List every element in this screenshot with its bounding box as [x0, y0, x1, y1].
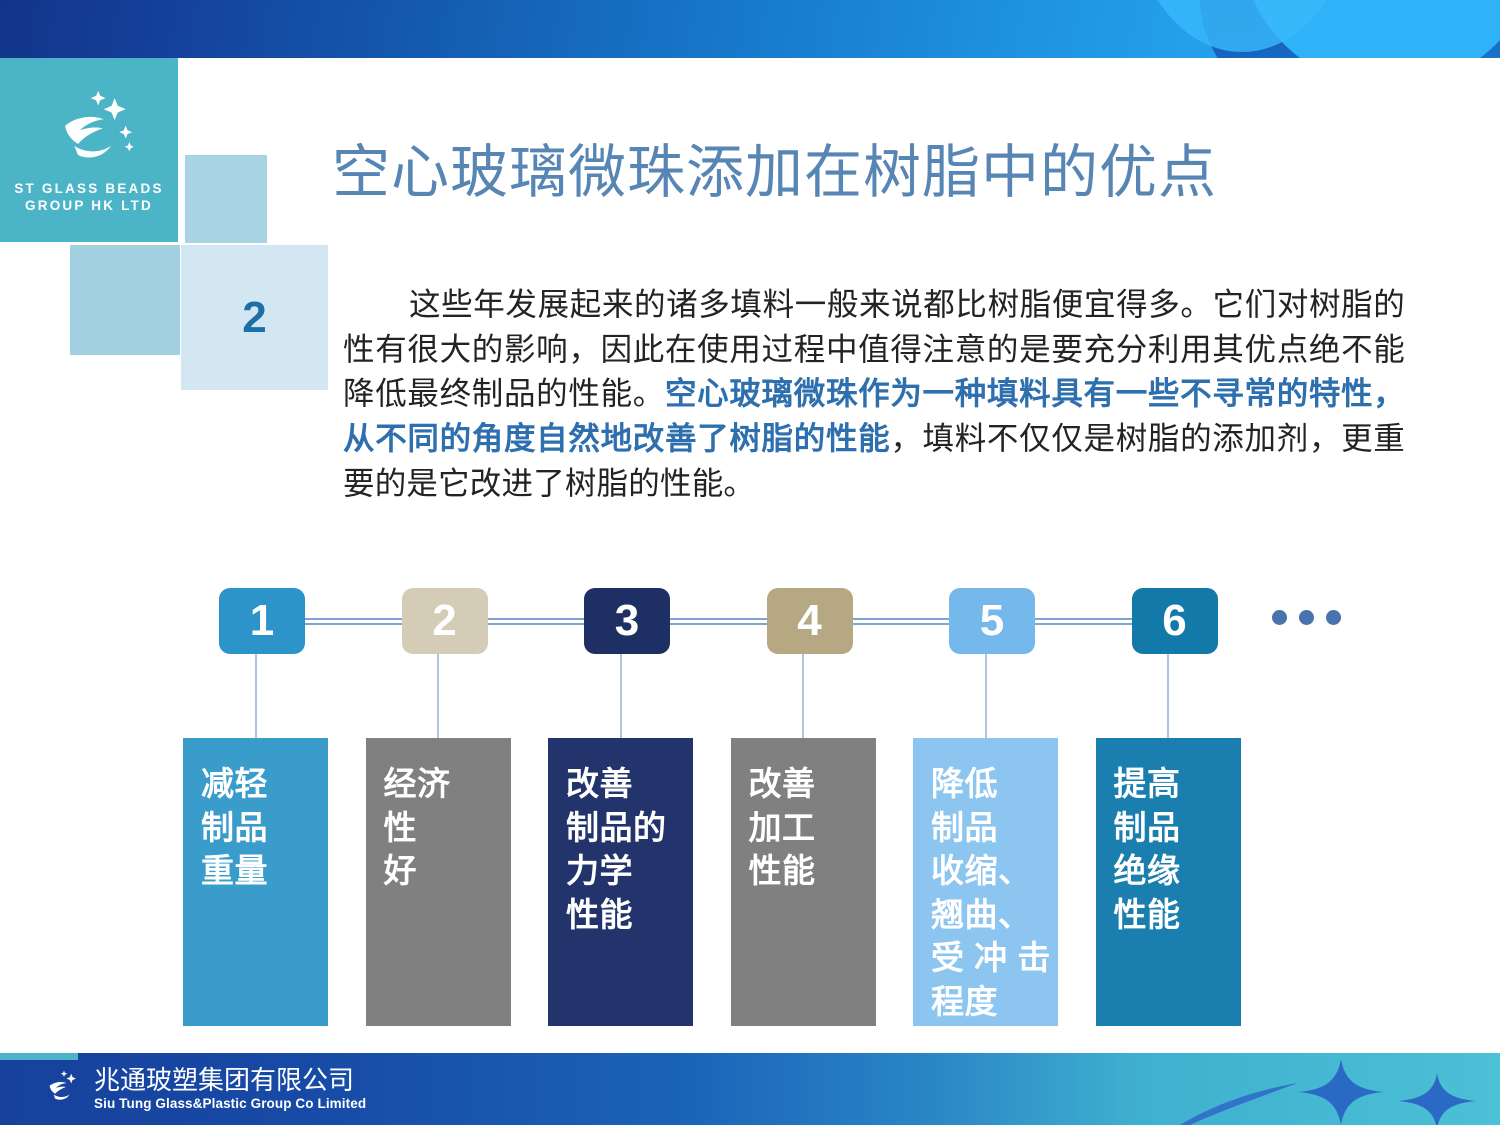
- benefit-panel-line: 好: [384, 849, 511, 893]
- timeline-connector: [303, 618, 404, 625]
- benefit-panel-line: 改善: [566, 762, 693, 806]
- benefit-panel-line: 制品的: [566, 806, 693, 850]
- benefit-panel-1[interactable]: 减轻制品重量: [183, 738, 328, 1026]
- benefit-panel-line: 重量: [201, 849, 328, 893]
- timeline-dropline: [620, 654, 622, 738]
- footer-brand: 兆通玻塑集团有限公司 Siu Tung Glass&Plastic Group …: [36, 1065, 366, 1113]
- benefit-panel-line: 程度: [931, 980, 1058, 1024]
- swirl-sparkle-logo-icon: [36, 1065, 84, 1113]
- benefit-panel-5[interactable]: 降低制品收缩、翘曲、受 冲 击程度: [913, 738, 1058, 1026]
- timeline-dropline: [1167, 654, 1169, 738]
- slide-number-box: 2: [181, 245, 328, 390]
- footer-company-en: Siu Tung Glass&Plastic Group Co Limited: [94, 1096, 366, 1112]
- benefit-panel-line: 性能: [1114, 893, 1241, 937]
- benefit-panel-line: 翘曲、: [931, 893, 1058, 937]
- benefit-panel-line: 制品: [931, 806, 1058, 850]
- timeline-badge-4[interactable]: 4: [767, 588, 853, 654]
- timeline-dropline: [802, 654, 804, 738]
- timeline-badge-6[interactable]: 6: [1132, 588, 1218, 654]
- benefit-panel-line: 提高: [1114, 762, 1241, 806]
- benefit-panel-line: 加工: [749, 806, 876, 850]
- footer-company-names: 兆通玻塑集团有限公司 Siu Tung Glass&Plastic Group …: [94, 1067, 366, 1112]
- brand-logo-line2: GROUP HK LTD: [25, 198, 153, 215]
- swirl-sparkle-logo-icon: [33, 89, 145, 177]
- benefit-panel-line: 性能: [566, 893, 693, 937]
- timeline-dropline: [437, 654, 439, 738]
- slide-number: 2: [242, 296, 266, 340]
- timeline-badge-3[interactable]: 3: [584, 588, 670, 654]
- benefit-panel-line: 制品: [1114, 806, 1241, 850]
- footer-bar: 兆通玻塑集团有限公司 Siu Tung Glass&Plastic Group …: [0, 1053, 1500, 1125]
- benefit-panel-line: 性: [384, 806, 511, 850]
- benefit-panel-line: 性能: [749, 849, 876, 893]
- benefit-panel-3[interactable]: 改善制品的力学性能: [548, 738, 693, 1026]
- timeline-connector: [668, 618, 769, 625]
- timeline-dropline: [985, 654, 987, 738]
- brand-logo-line1: ST GLASS BEADS: [14, 181, 163, 198]
- footer-accent-block: [0, 1053, 78, 1060]
- timeline-badge-2[interactable]: 2: [402, 588, 488, 654]
- four-point-star-small-icon: [1398, 1073, 1476, 1125]
- benefit-panel-line: 经济: [384, 762, 511, 806]
- benefit-panel-line: 受 冲 击: [931, 936, 1058, 980]
- benefit-panel-line: 收缩、: [931, 849, 1058, 893]
- deco-square-left: [70, 245, 180, 355]
- brand-logo-box: ST GLASS BEADS GROUP HK LTD: [0, 58, 178, 242]
- timeline-connector: [851, 618, 952, 625]
- four-point-star-icon: [1298, 1059, 1384, 1125]
- three-dots-icon: [1272, 610, 1341, 625]
- timeline-badge-row: 123456: [0, 588, 1500, 658]
- ellipsis-dot: [1272, 610, 1287, 625]
- benefit-panel-2[interactable]: 经济性好: [366, 738, 511, 1026]
- benefit-panel-6[interactable]: 提高制品绝缘性能: [1096, 738, 1241, 1026]
- timeline-badge-5[interactable]: 5: [949, 588, 1035, 654]
- top-banner: [0, 0, 1500, 58]
- page-title: 空心玻璃微珠添加在树脂中的优点: [332, 140, 1432, 207]
- benefit-panel-line: 制品: [201, 806, 328, 850]
- timeline-connector: [1033, 618, 1134, 625]
- timeline-connector: [486, 618, 587, 625]
- body-paragraph: 这些年发展起来的诸多填料一般来说都比树脂便宜得多。它们对树脂的性有很大的影响，因…: [343, 282, 1405, 506]
- benefit-panel-line: 降低: [931, 762, 1058, 806]
- ellipsis-dot: [1299, 610, 1314, 625]
- footer-company-cn: 兆通玻塑集团有限公司: [94, 1067, 366, 1094]
- benefit-panel-line: 力学: [566, 849, 693, 893]
- timeline-badge-1[interactable]: 1: [219, 588, 305, 654]
- footer-swoosh-icon: [1180, 1067, 1300, 1125]
- benefit-panel-line: 绝缘: [1114, 849, 1241, 893]
- benefit-panel-line: 改善: [749, 762, 876, 806]
- slide-canvas: 2 ST GLASS BEADS GROUP HK LTD 空心玻璃微珠添加在树…: [0, 0, 1500, 1125]
- benefit-panel-line: 减轻: [201, 762, 328, 806]
- benefit-panel-4[interactable]: 改善加工性能: [731, 738, 876, 1026]
- timeline-dropline: [255, 654, 257, 738]
- ellipsis-dot: [1326, 610, 1341, 625]
- deco-square-upper: [185, 155, 267, 243]
